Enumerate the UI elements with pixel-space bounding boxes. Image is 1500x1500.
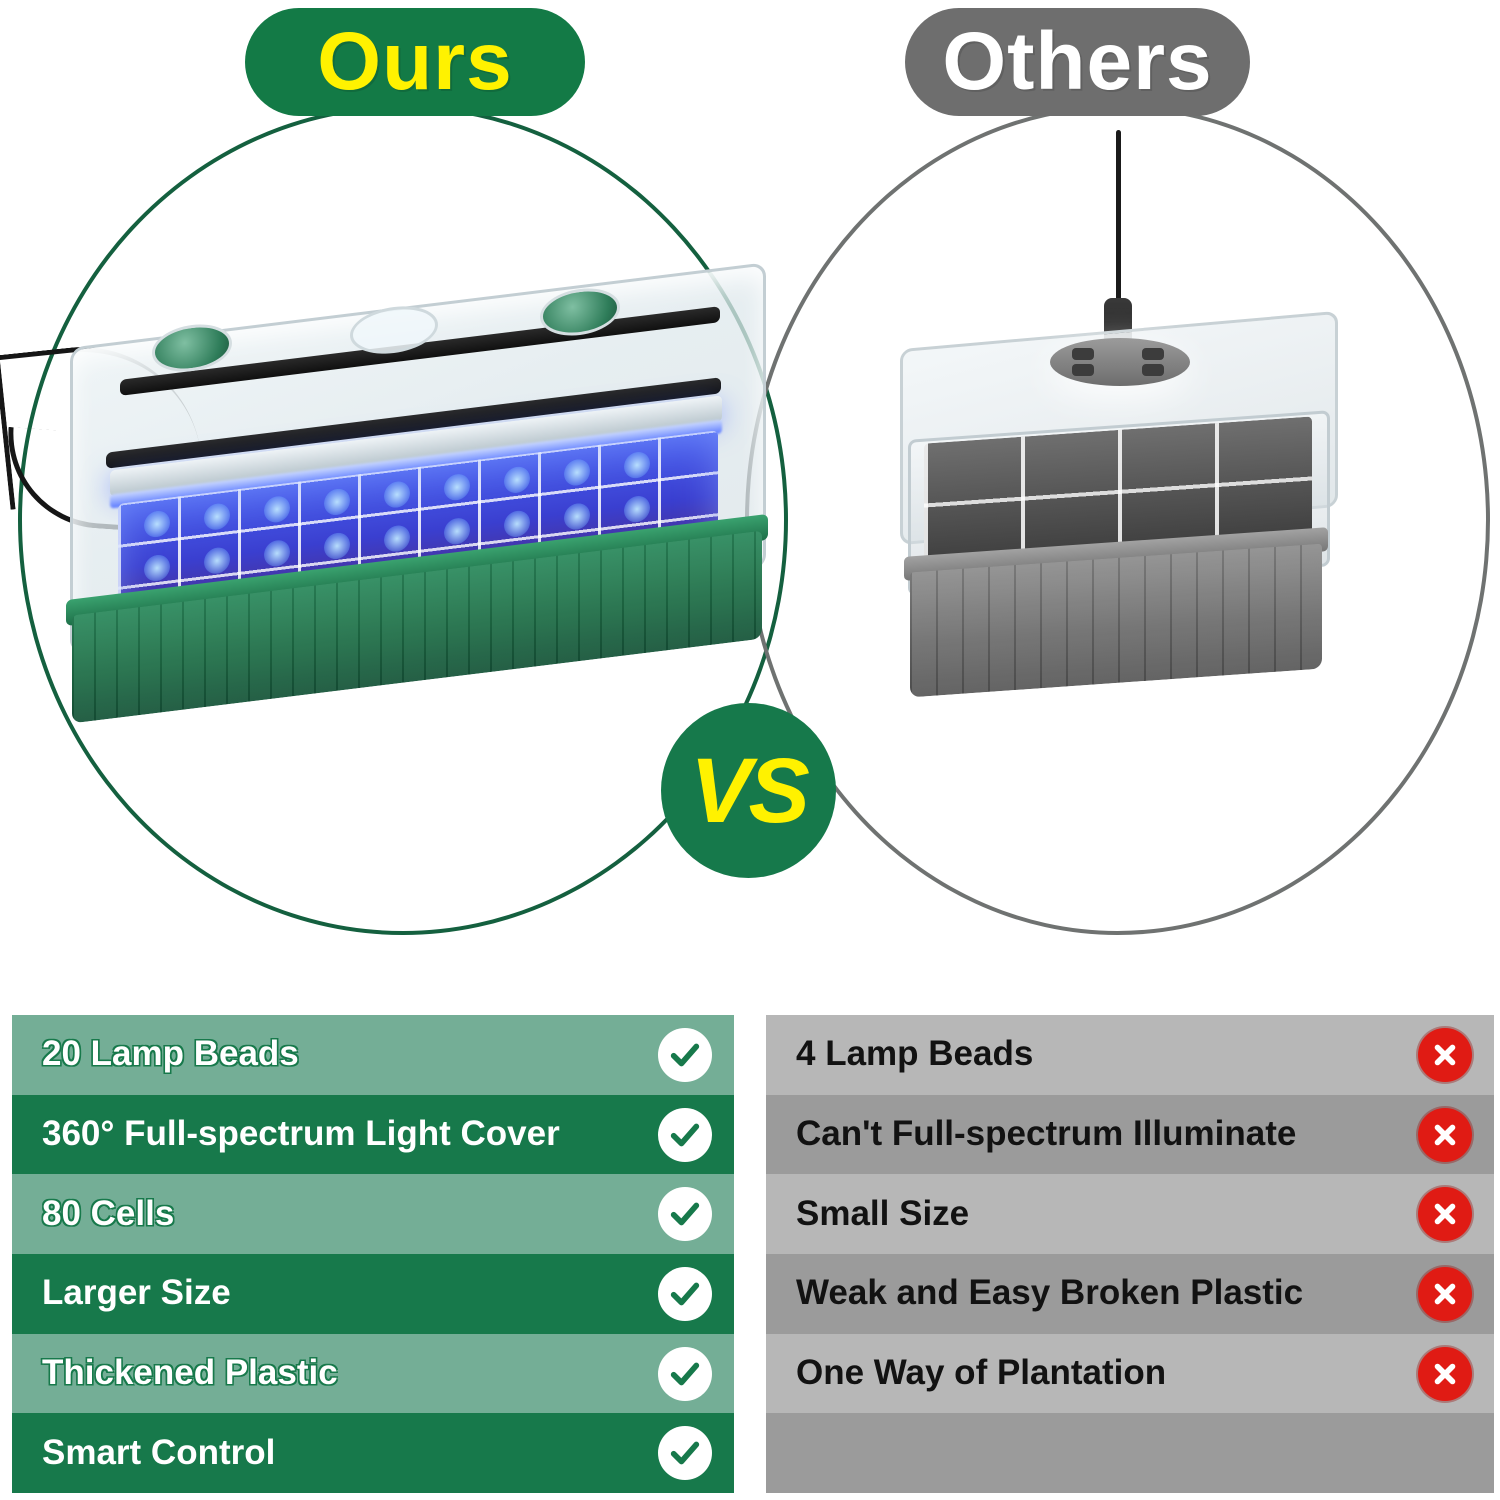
feature-label: Weak and Easy Broken Plastic [796,1275,1303,1312]
ours-badge-label: Ours [317,21,512,103]
check-icon [658,1426,712,1480]
feature-label: 360° Full-spectrum Light Cover [42,1116,560,1153]
comparison-infographic: Ours Others VS 20 Lamp Beads 360° Full-s… [0,0,1500,1500]
table-row: Weak and Easy Broken Plastic [766,1254,1494,1334]
others-product-image [880,130,1350,690]
others-feature-table: 4 Lamp Beads Can't Full-spectrum Illumin… [766,1015,1494,1493]
cross-icon [1418,1267,1472,1321]
others-badge-label: Others [942,21,1212,103]
feature-label: 80 Cells [42,1196,174,1233]
feature-label: Can't Full-spectrum Illuminate [796,1116,1296,1153]
ours-badge: Ours [245,8,585,116]
check-icon [658,1187,712,1241]
vs-badge: VS [661,703,836,878]
feature-label: 4 Lamp Beads [796,1036,1033,1073]
feature-label: Larger Size [42,1275,231,1312]
check-icon [658,1028,712,1082]
others-lamp-disc [1050,338,1190,386]
table-row: One Way of Plantation [766,1334,1494,1414]
vs-badge-label: VS [690,745,807,837]
table-row: Thickened Plastic [12,1334,734,1414]
cross-icon [1418,1028,1472,1082]
check-icon [658,1347,712,1401]
feature-label: Thickened Plastic [42,1355,338,1392]
cross-icon [1418,1187,1472,1241]
table-row: 20 Lamp Beads [12,1015,734,1095]
hanging-wire-icon [1116,130,1121,305]
ours-product-image [30,285,770,685]
table-row: Smart Control [12,1413,734,1493]
table-row: 360° Full-spectrum Light Cover [12,1095,734,1175]
table-row-empty [766,1413,1494,1493]
ours-feature-table: 20 Lamp Beads 360° Full-spectrum Light C… [12,1015,734,1493]
feature-label: Small Size [796,1196,969,1233]
cross-icon [1418,1108,1472,1162]
check-icon [658,1267,712,1321]
feature-label: 20 Lamp Beads [42,1036,299,1073]
table-row: 80 Cells [12,1174,734,1254]
others-badge: Others [905,8,1250,116]
feature-label: One Way of Plantation [796,1355,1166,1392]
table-row: 4 Lamp Beads [766,1015,1494,1095]
table-row: Small Size [766,1174,1494,1254]
product-comparison-region: Ours Others VS [0,0,1500,1000]
check-icon [658,1108,712,1162]
feature-label: Smart Control [42,1435,275,1472]
table-row: Larger Size [12,1254,734,1334]
cross-icon [1418,1347,1472,1401]
table-row: Can't Full-spectrum Illuminate [766,1095,1494,1175]
